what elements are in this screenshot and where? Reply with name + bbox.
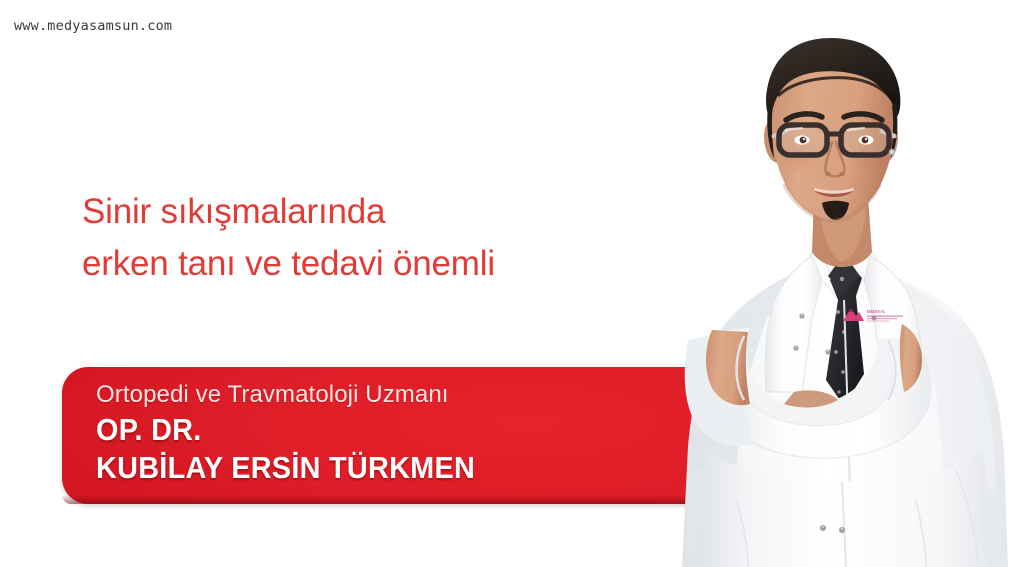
svg-text:MEDIKAL: MEDIKAL [867, 309, 886, 314]
watermark-text: www.medyasamsun.com [14, 18, 172, 34]
doctor-title: OP. DR. [96, 411, 475, 449]
headline-line-2: erken tanı ve tedavi önemli [82, 238, 495, 290]
name-banner-text: Ortopedi ve Travmatoloji Uzmanı OP. DR. … [96, 379, 504, 487]
headline: Sinir sıkışmalarında erken tanı ve tedav… [82, 186, 495, 290]
news-graphic-canvas: www.medyasamsun.com Sinir sıkışmalarında… [0, 0, 1024, 567]
name-banner: Ortopedi ve Travmatoloji Uzmanı OP. DR. … [62, 367, 707, 504]
headline-line-1: Sinir sıkışmalarında [82, 186, 495, 238]
specialty-label: Ortopedi ve Travmatoloji Uzmanı [96, 379, 504, 411]
doctor-portrait-image [616, 0, 1024, 567]
doctor-name: KUBİLAY ERSİN TÜRKMEN [96, 449, 475, 487]
hospital-logo-icon: MEDIKAL [840, 304, 912, 326]
